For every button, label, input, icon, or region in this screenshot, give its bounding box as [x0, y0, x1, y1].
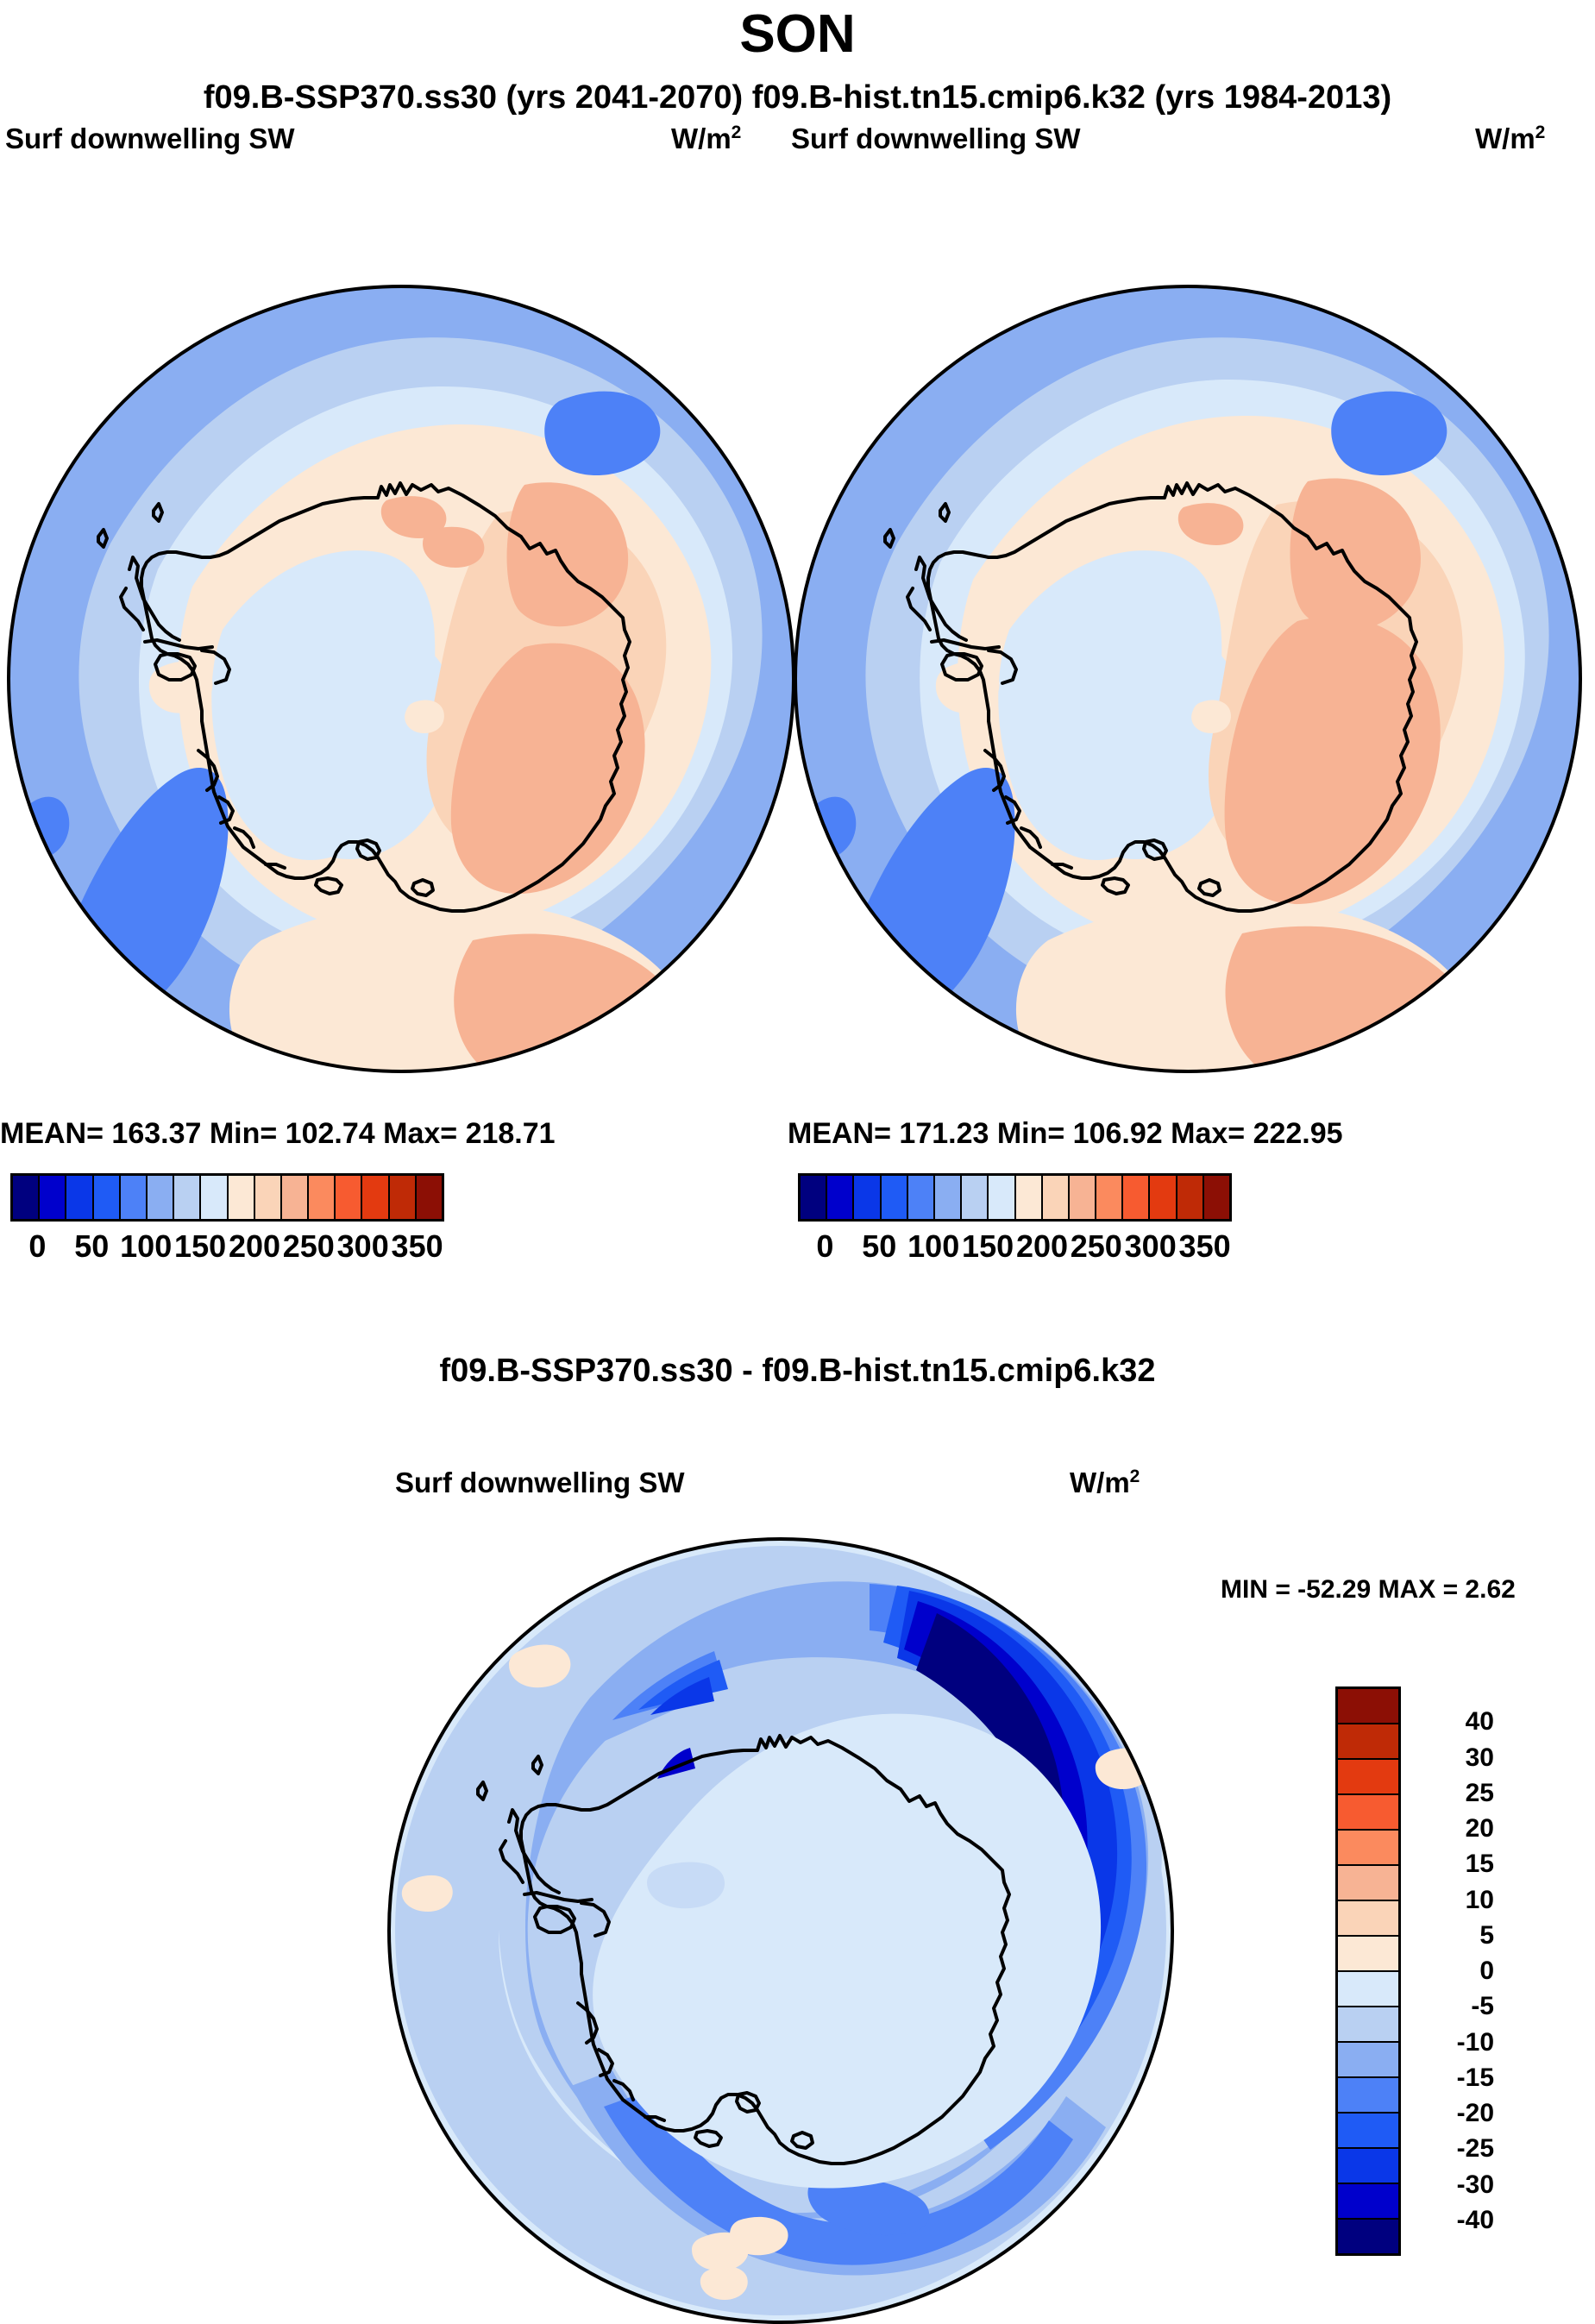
difference-panel-title: f09.B-SSP370.ss30 - f09.B-hist.tn15.cmip… [0, 1353, 1595, 1390]
left-map-contours [7, 285, 795, 1073]
left-map-svg [7, 285, 795, 1073]
colorbar-tick-label: 0 [28, 1228, 46, 1265]
colorbar-cell [1338, 1937, 1398, 1972]
right-unit-text: W/m [1475, 122, 1535, 154]
colorbar-cell [121, 1176, 148, 1219]
colorbar-tick-label: 150 [962, 1228, 1014, 1265]
diff-colorbar-cells[interactable] [1335, 1686, 1401, 2256]
colorbar-cell [336, 1176, 362, 1219]
colorbar-tick-label: 0 [1411, 1957, 1494, 1986]
colorbar-cell [148, 1176, 174, 1219]
right-colorbar: 0 50 100 150 200 250 300 350 [798, 1173, 1232, 1273]
colorbar-tick-label: 25 [1411, 1779, 1494, 1808]
colorbar-tick-label: -30 [1411, 2170, 1494, 2200]
colorbar-tick-label: 50 [74, 1228, 109, 1265]
colorbar-tick-label: 300 [1125, 1228, 1177, 1265]
colorbar-cell [1016, 1176, 1043, 1219]
colorbar-tick-label: 30 [1411, 1743, 1494, 1773]
right-map-contours [794, 285, 1582, 1073]
diff-panel-unit-label: W/m2 [1070, 1467, 1140, 1499]
colorbar-cell [1043, 1176, 1070, 1219]
page-title: SON [0, 3, 1595, 65]
colorbar-cell [1338, 2078, 1398, 2114]
left-panel-unit-label: W/m2 [671, 122, 741, 155]
colorbar-tick-label: 50 [862, 1228, 896, 1265]
colorbar-tick-label: 200 [1016, 1228, 1068, 1265]
colorbar-cell [174, 1176, 201, 1219]
colorbar-cell [1338, 1689, 1398, 1724]
colorbar-cell [1204, 1176, 1229, 1219]
colorbar-tick-label: 300 [337, 1228, 389, 1265]
right-panel-variable-label: Surf downwelling SW [791, 122, 1080, 155]
page-subtitle: f09.B-SSP370.ss30 (yrs 2041-2070) f09.B-… [0, 79, 1595, 116]
right-colorbar-cells[interactable] [798, 1173, 1232, 1222]
left-unit-text: W/m [671, 122, 732, 154]
colorbar-cell [1338, 1795, 1398, 1831]
right-map-svg [794, 285, 1582, 1073]
colorbar-cell [1338, 1972, 1398, 2007]
colorbar-cell [1338, 1831, 1398, 1866]
colorbar-tick-label: 250 [1071, 1228, 1122, 1265]
colorbar-tick-label: 250 [283, 1228, 335, 1265]
colorbar-cell [255, 1176, 282, 1219]
colorbar-cell [417, 1176, 442, 1219]
colorbar-tick-label: 200 [229, 1228, 280, 1265]
colorbar-tick-label: 0 [816, 1228, 833, 1265]
colorbar-tick-label: 15 [1411, 1850, 1494, 1879]
colorbar-tick-label: 20 [1411, 1814, 1494, 1843]
colorbar-cell [201, 1176, 228, 1219]
colorbar-cell [1338, 2043, 1398, 2078]
colorbar-tick-label: 5 [1411, 1921, 1494, 1950]
right-colorbar-ticks: 0 50 100 150 200 250 300 350 [798, 1228, 1232, 1273]
colorbar-cell [229, 1176, 255, 1219]
right-map-panel [794, 285, 1582, 1073]
colorbar-cell [1123, 1176, 1150, 1219]
left-panel-stats: MEAN= 163.37 Min= 102.74 Max= 218.71 [0, 1117, 457, 1151]
right-panel-stats: MEAN= 171.23 Min= 106.92 Max= 222.95 [788, 1117, 1245, 1151]
colorbar-cell [1177, 1176, 1204, 1219]
diff-map-panel [386, 1537, 1175, 2324]
diff-panel-variable-label: Surf downwelling SW [395, 1467, 684, 1499]
colorbar-cell [801, 1176, 827, 1219]
colorbar-cell [827, 1176, 854, 1219]
colorbar-cell [908, 1176, 935, 1219]
diff-unit-exponent: 2 [1130, 1467, 1140, 1486]
colorbar-cell [1338, 2220, 1398, 2253]
colorbar-tick-label: 10 [1411, 1886, 1494, 1915]
colorbar-cell [1070, 1176, 1096, 1219]
right-panel-unit-label: W/m2 [1475, 122, 1545, 155]
colorbar-cell [94, 1176, 121, 1219]
colorbar-tick-label: -10 [1411, 2028, 1494, 2057]
colorbar-cell [882, 1176, 908, 1219]
colorbar-cell [989, 1176, 1015, 1219]
diff-colorbar-ticks: 40 30 25 20 15 10 5 0 -5 -10 -15 -20 -25… [1411, 1686, 1498, 2256]
colorbar-cell [1338, 2007, 1398, 2043]
left-unit-exponent: 2 [732, 122, 742, 142]
colorbar-cell [935, 1176, 962, 1219]
colorbar-cell [1338, 2149, 1398, 2184]
colorbar-cell [1338, 2184, 1398, 2220]
colorbar-cell [1338, 2114, 1398, 2149]
colorbar-tick-label: -20 [1411, 2099, 1494, 2128]
colorbar-tick-label: 150 [174, 1228, 226, 1265]
colorbar-tick-label: 40 [1411, 1707, 1494, 1737]
diff-map-svg [386, 1537, 1175, 2324]
colorbar-cell [282, 1176, 309, 1219]
colorbar-cell [962, 1176, 989, 1219]
colorbar-cell [854, 1176, 881, 1219]
left-colorbar-cells[interactable] [10, 1173, 444, 1222]
colorbar-cell [362, 1176, 389, 1219]
colorbar-cell [309, 1176, 336, 1219]
diff-colorbar[interactable] [1335, 1686, 1401, 2256]
diff-map-contours [386, 1537, 1175, 2324]
colorbar-tick-label: -5 [1411, 1992, 1494, 2021]
colorbar-cell [13, 1176, 40, 1219]
colorbar-tick-label: 350 [1179, 1228, 1231, 1265]
diff-minmax-label: MIN = -52.29 MAX = 2.62 [1221, 1575, 1516, 1605]
colorbar-cell [1338, 1760, 1398, 1795]
left-panel-variable-label: Surf downwelling SW [5, 122, 294, 155]
colorbar-cell [1338, 1866, 1398, 1901]
colorbar-tick-label: 350 [392, 1228, 443, 1265]
colorbar-tick-label: 100 [120, 1228, 172, 1265]
colorbar-cell [1338, 1724, 1398, 1760]
colorbar-cell [390, 1176, 417, 1219]
colorbar-tick-label: -25 [1411, 2134, 1494, 2164]
colorbar-tick-label: -15 [1411, 2063, 1494, 2093]
colorbar-cell [40, 1176, 66, 1219]
left-colorbar-ticks: 0 50 100 150 200 250 300 350 [10, 1228, 444, 1273]
right-unit-exponent: 2 [1535, 122, 1546, 142]
colorbar-tick-label: -40 [1411, 2206, 1494, 2235]
diff-unit-text: W/m [1070, 1467, 1130, 1498]
colorbar-cell [1150, 1176, 1177, 1219]
colorbar-tick-label: 100 [907, 1228, 959, 1265]
colorbar-cell [66, 1176, 93, 1219]
colorbar-cell [1338, 1901, 1398, 1937]
left-map-panel [7, 285, 795, 1073]
colorbar-cell [1096, 1176, 1123, 1219]
left-colorbar: 0 50 100 150 200 250 300 350 [10, 1173, 444, 1273]
